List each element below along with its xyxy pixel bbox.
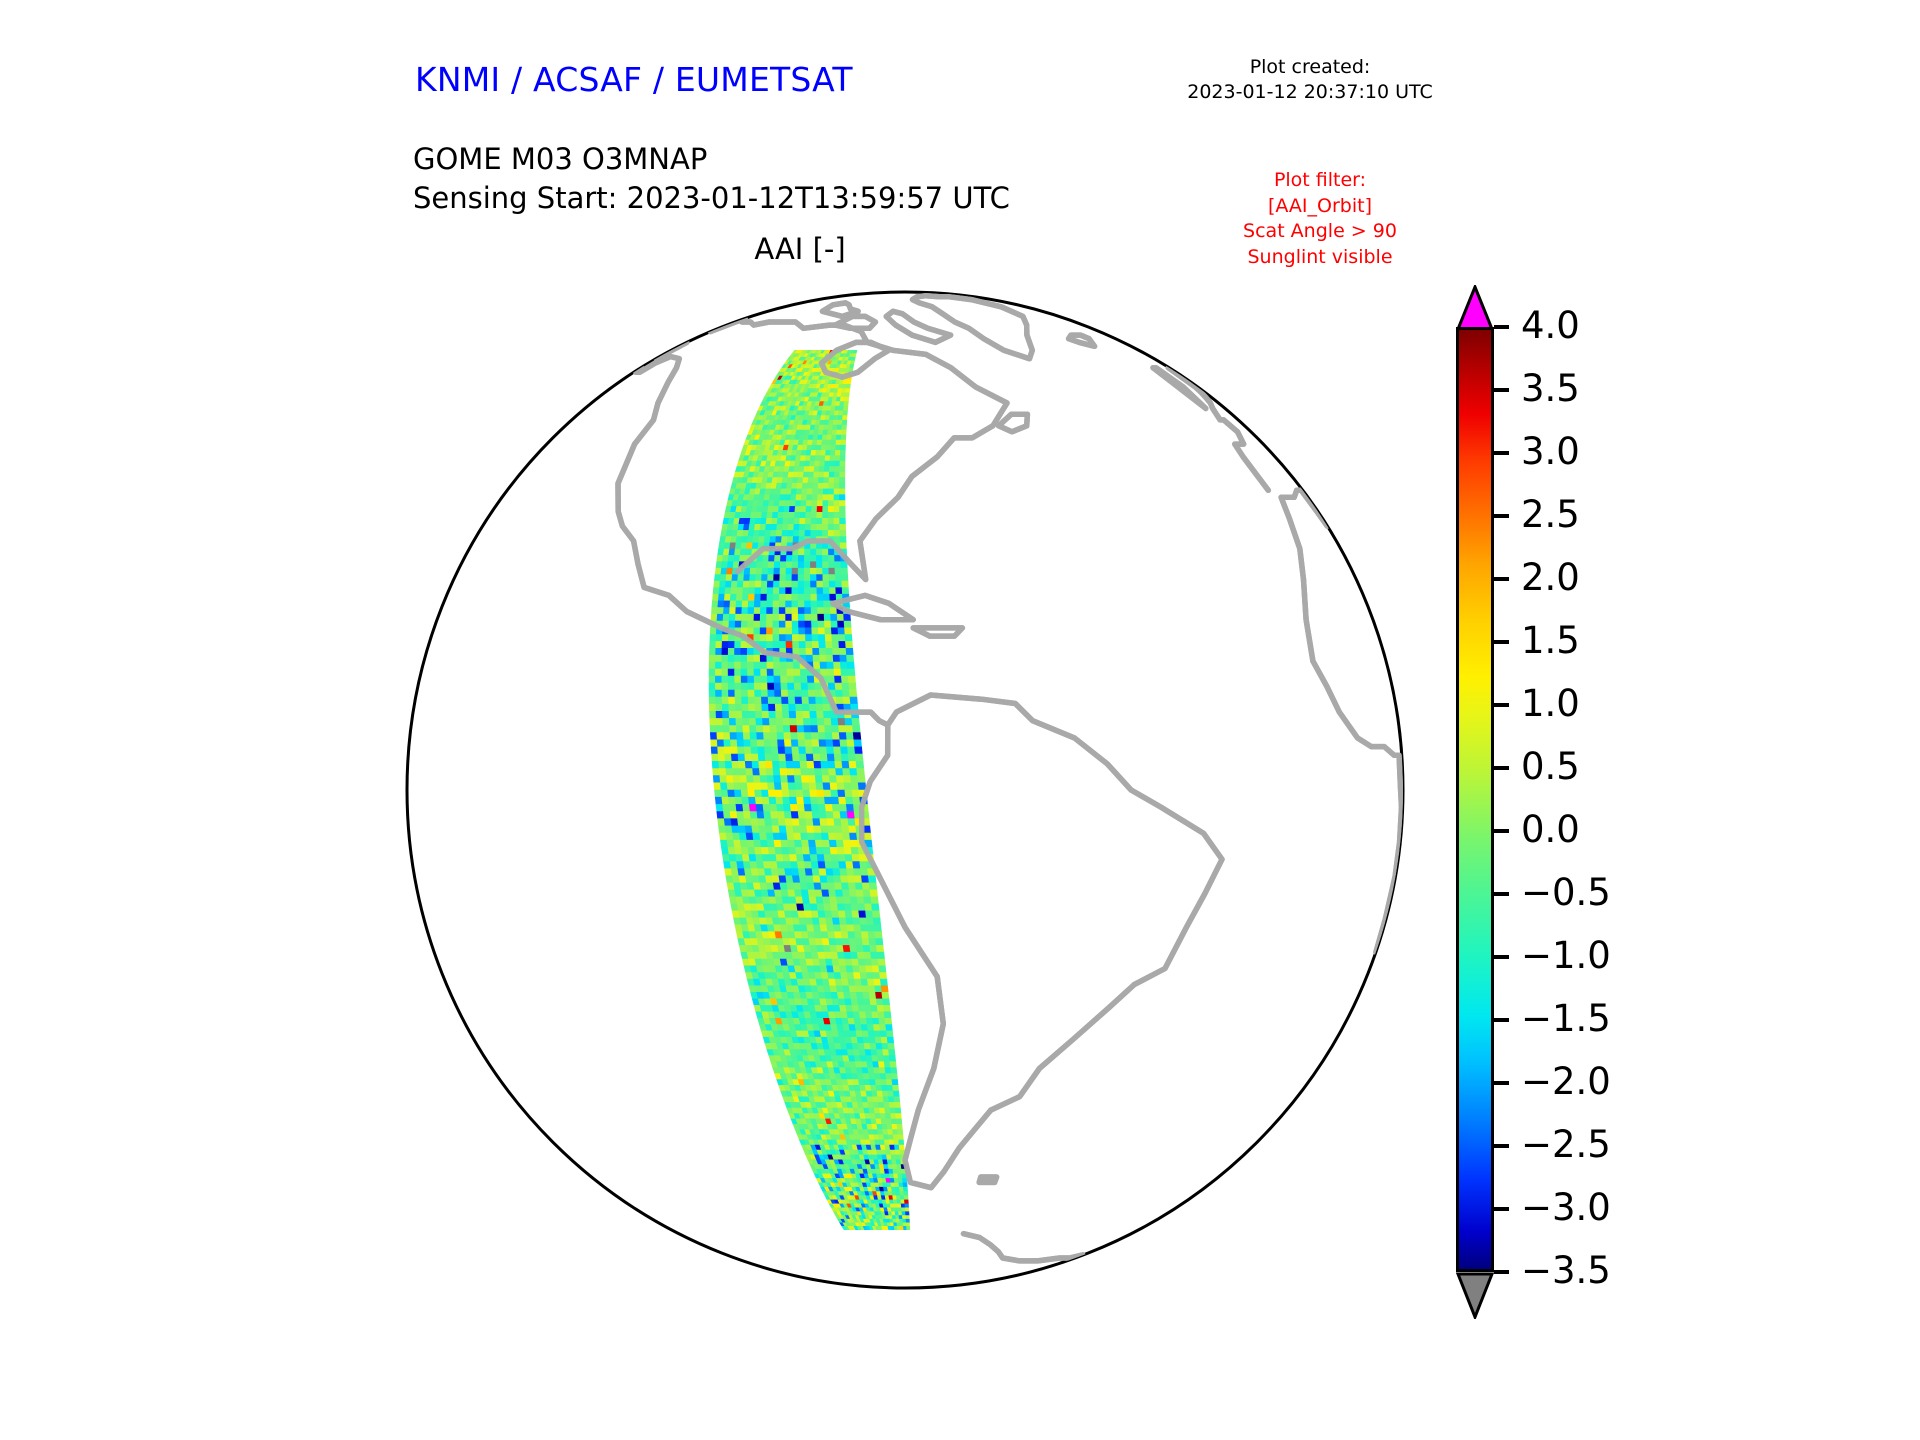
swath-cell [774,683,781,690]
colorbar-tick-label: −2.5 [1521,1123,1611,1166]
swath-cell [824,608,831,615]
swath-cell [850,769,858,776]
swath-cell [881,1080,887,1086]
swath-cell [770,530,776,536]
colorbar-tick-label: 0.0 [1521,808,1580,851]
swath-cell [777,812,785,819]
swath-cell [800,826,808,833]
swath-cell [808,690,815,697]
swath-cell [823,483,829,489]
swath-cell [829,467,834,473]
swath-cell [790,495,796,501]
swath-cell [724,740,731,747]
swath-cell [829,562,835,569]
swath-cell [804,568,810,574]
swath-cell [852,1005,859,1011]
swath-cell [798,869,806,876]
swath-cell [754,655,761,662]
swath-cell [834,669,841,676]
swath-cell [854,740,862,747]
swath-cell [839,489,845,495]
swath-cell [841,575,848,582]
swath-cell [754,601,760,608]
swath-cell [777,733,784,740]
swath-cell [839,797,847,804]
swath-cell [828,676,835,683]
swath-cell [805,869,813,876]
swath-cell [780,575,786,582]
swath-cell [885,1114,891,1119]
swath-cell [780,662,787,669]
swath-cell [750,575,756,582]
swath-cell [871,897,879,904]
swath-cell [831,718,839,725]
swath-cell [820,819,828,826]
swath-cell [824,797,832,804]
swath-cell [782,697,789,704]
swath-cell [768,790,776,797]
swath-cell [761,697,768,704]
swath-cell [840,483,845,489]
swath-cell [735,669,742,676]
swath-cell [792,594,798,601]
swath-cell [905,1208,909,1212]
swath-cell [795,501,801,507]
globe-map [400,285,1410,1295]
swath-cell [787,662,794,669]
swath-cell [876,999,883,1006]
swath-cell [797,483,803,489]
swath-cell [850,840,858,847]
swath-cell [760,776,768,783]
swath-cell [728,676,735,683]
swath-cell [779,588,785,595]
swath-cell [728,648,734,655]
swath-cell [781,890,789,897]
swath-cell [722,704,729,711]
swath-cell [753,769,760,776]
swath-cell [808,769,816,776]
swath-cell [853,726,861,733]
swath-cell [891,1119,897,1124]
swath-cell [860,862,868,869]
swath-cell [870,890,878,897]
swath-cell [785,869,793,876]
swath-cell [786,826,794,833]
swath-cell [853,733,861,740]
swath-cell [789,790,797,797]
swath-cell [755,697,762,704]
swath-cell [865,1012,872,1019]
swath-cell [898,1135,903,1140]
swath-cell [825,635,832,642]
swath-cell [789,512,795,518]
swath-cell [828,833,836,840]
swath-cell [775,690,782,697]
swath-cell [720,575,727,582]
swath-cell [830,897,838,904]
swath-cell [722,655,728,662]
swath-cell [743,581,749,588]
swath-cell [842,581,849,588]
swath-cell [753,537,759,543]
swath-cell [817,588,824,595]
swath-cell [779,601,785,608]
swath-cell [877,1050,884,1056]
swath-cell [768,783,776,790]
swath-cell [902,1178,907,1183]
swath-cell [835,761,843,768]
swath-cell [872,966,879,973]
swath-cell [849,986,856,993]
swath-cell [820,754,828,761]
swath-cell [823,501,829,507]
swath-cell [787,537,793,543]
swath-cell [848,819,856,826]
swath-cell [872,1012,879,1019]
swath-cell [800,883,808,890]
swath-cell [875,986,882,993]
swath-cell [747,543,753,549]
swath-cell [768,704,775,711]
swath-cell [839,641,846,648]
swath-cell [832,435,837,440]
swath-cell [779,761,787,768]
swath-cell [853,350,857,353]
swath-cell [828,549,834,555]
swath-cell [784,733,791,740]
swath-cell [857,897,865,904]
swath-cell [826,655,833,662]
swath-cell [832,862,840,869]
swath-cell [774,501,780,507]
swath-cell [835,568,842,574]
swath-cell [812,495,818,501]
swath-cell [868,986,875,993]
swath-cell [773,506,779,512]
swath-cell [882,992,889,999]
swath-cell [767,601,773,608]
swath-cell [725,826,733,833]
swath-cell [805,601,812,608]
swath-cell [882,1043,889,1049]
swath-cell [823,588,830,595]
swath-cell [786,614,792,621]
swath-cell [761,847,769,854]
swath-cell [901,1204,905,1208]
swath-cell [794,669,801,676]
swath-cell [773,769,781,776]
swath-cell [797,726,804,733]
swath-cell [799,754,807,761]
swath-cell [838,621,845,628]
swath-cell [741,621,747,628]
swath-cell [731,747,738,754]
swath-cell [768,568,774,574]
swath-cell [754,669,761,676]
swath-cell [741,662,748,669]
swath-cell [761,690,768,697]
swath-cell [811,621,818,628]
swath-cell [817,506,823,512]
swath-cell [848,883,856,890]
swath-cell [837,904,845,911]
swath-cell [730,812,738,819]
swath-cell [801,776,809,783]
swath-cell [792,575,798,582]
swath-cell [867,925,875,932]
swath-cell [773,621,779,628]
swath-cell [817,797,825,804]
swath-cell [900,1192,904,1196]
swath-cell [852,855,860,862]
swath-cell [774,568,780,574]
swath-cell [749,581,755,588]
swath-cell [754,676,761,683]
swath-cell [831,904,839,911]
swath-cell [837,614,844,621]
swath-cell [751,754,758,761]
swath-cell [774,840,782,847]
swath-cell [756,804,764,811]
swath-cell [830,456,835,461]
swath-cell [829,939,837,946]
swath-cell [822,555,828,561]
swath-cell [883,1005,890,1011]
swath-cell [843,406,848,411]
swath-cell [757,740,764,747]
swath-cell [722,641,728,648]
swath-cell [775,847,783,854]
swath-cell [898,1130,903,1135]
swath-cell [807,883,815,890]
swath-cell [830,461,835,466]
swath-cell [844,621,851,628]
swath-cell [731,581,737,588]
swath-cell [835,562,841,569]
swath-cell [850,697,858,704]
swath-cell [709,704,716,711]
swath-cell [828,530,834,536]
swath-cell [894,1097,900,1103]
swath-cell [811,911,819,918]
swath-cell [796,495,802,501]
swath-cell [831,797,839,804]
swath-cell [884,1012,891,1019]
swath-cell [847,869,855,876]
swath-cell [832,641,839,648]
swath-cell [861,979,868,986]
swath-cell [815,461,821,466]
swath-cell [803,478,809,484]
swath-cell [846,804,854,811]
swath-cell [774,776,782,783]
swath-cell [728,669,735,676]
swath-cell [755,790,763,797]
swath-cell [771,869,779,876]
swath-cell [804,562,810,569]
colorbar-ticks: 4.03.53.02.52.01.51.00.50.0−0.5−1.0−1.5−… [1494,327,1724,1272]
swath-cell [893,1085,899,1091]
swath-cell [742,608,748,615]
swath-cell [805,524,811,530]
swath-cell [847,740,855,747]
swath-cell [840,472,845,478]
swath-cell [709,662,715,669]
swath-cell [856,945,864,952]
swath-cell [746,769,753,776]
swath-cell [822,769,830,776]
swath-cell [727,783,734,790]
swath-cell [762,711,769,718]
swath-cell [862,939,870,946]
swath-cell [851,847,859,854]
swath-cell [716,641,722,648]
swath-cell [810,562,816,569]
swath-cell [709,655,715,662]
swath-cell [779,594,785,601]
swath-cell [754,530,760,536]
swath-cell [796,489,802,495]
swath-cell [817,524,823,530]
swath-cell [798,601,805,608]
swath-cell [834,518,840,524]
swath-cell [761,783,769,790]
swath-cell [769,555,775,561]
swath-cell [735,621,741,628]
swath-cell [853,862,861,869]
swath-cell [811,733,819,740]
swath-cell [818,628,825,635]
swath-cell [829,555,835,561]
swath-cell [811,588,817,595]
swath-cell [758,754,765,761]
swath-cell [836,435,841,440]
swath-cell [810,575,816,582]
swath-cell [778,506,784,512]
swath-cell [855,986,862,993]
swath-cell [819,812,827,819]
swath-cell [722,648,728,655]
swath-cell [819,648,826,655]
swath-cell [712,754,719,761]
swath-cell [825,456,830,461]
colorbar-tick-label: 3.5 [1521,367,1580,410]
swath-cell [773,662,780,669]
swath-cell [854,876,862,883]
swath-cell [739,833,747,840]
swath-cell [840,662,847,669]
swath-cell [715,797,722,804]
swath-cell [771,740,778,747]
swath-cell [820,456,825,461]
swath-cell [822,440,827,445]
swath-cell [803,711,810,718]
swath-cell [756,562,762,569]
swath-cell [821,883,829,890]
swath-cell [798,581,804,588]
swath-cell [860,925,868,932]
swath-cell [839,733,847,740]
swath-cell [837,847,845,854]
swath-cell [773,614,779,621]
swath-cell [781,783,789,790]
swath-cell [881,1037,888,1043]
swath-cell [884,1062,891,1068]
swath-cell [786,628,793,635]
swath-cell [833,740,841,747]
swath-cell [761,683,768,690]
swath-cell [750,740,757,747]
plot-filter-block: Plot filter: [AAI_Orbit] Scat Angle > 90… [1180,168,1460,271]
swath-cell [757,812,765,819]
swath-cell [906,1223,909,1227]
swath-cell [811,608,818,615]
swath-cell [808,833,816,840]
swath-cell [874,1031,881,1037]
swath-cell [821,826,829,833]
swath-cell [732,826,740,833]
swath-cell [779,826,787,833]
colorbar-tick-line [1494,325,1509,329]
swath-cell [880,973,887,980]
swath-cell [729,704,736,711]
swath-cell [738,754,745,761]
swath-cell [784,812,792,819]
swath-cell [722,676,728,683]
swath-cell [870,1043,877,1049]
swath-cell [722,662,728,669]
swath-cell [859,911,867,918]
swath-cell [834,819,842,826]
swath-cell [811,804,819,811]
swath-cell [879,1068,885,1074]
swath-cell [741,690,748,697]
swath-cell [767,512,773,518]
plot-filter-label: Plot filter: [1180,168,1460,194]
swath-cell [786,754,794,761]
swath-cell [844,614,851,621]
swath-cell [867,973,874,980]
swath-cell [733,833,741,840]
swath-cell [730,594,737,601]
swath-cell [779,614,785,621]
swath-cell [796,711,803,718]
swath-cell [760,524,766,530]
swath-cell [770,733,777,740]
swath-cell [768,562,774,569]
swath-cell [748,704,755,711]
swath-cell [821,833,829,840]
swath-cell [711,740,718,747]
swath-cell [758,747,765,754]
swath-cell [800,512,806,518]
swath-cell [805,461,811,466]
swath-cell [742,594,748,601]
swath-cell [840,530,846,536]
colorbar-tick-label: −2.0 [1521,1060,1611,1103]
swath-cell [738,575,745,582]
swath-cell [792,601,798,608]
swath-cell [748,690,755,697]
swath-cell [757,733,764,740]
swath-cell [804,726,812,733]
swath-cell [893,1091,899,1097]
swath-cell [823,847,831,854]
swath-cell [855,939,863,946]
swath-cell [783,726,790,733]
swath-cell [742,855,750,862]
